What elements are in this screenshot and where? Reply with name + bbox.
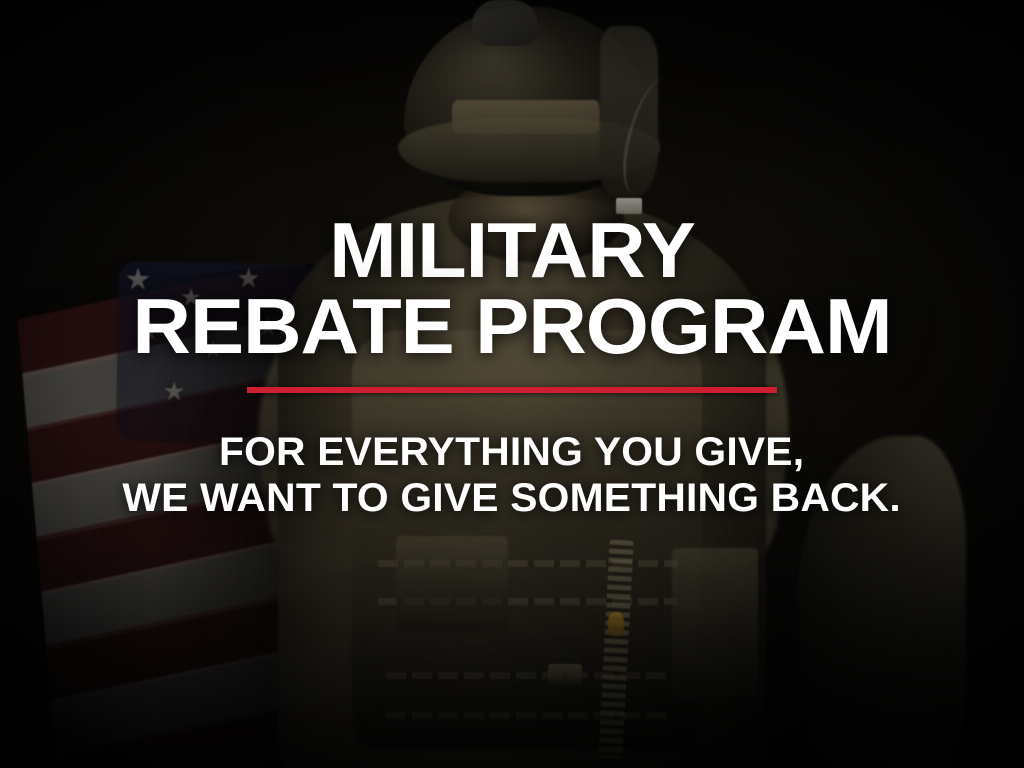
accent-divider — [247, 387, 777, 393]
headline-line-2: REBATE PROGRAM — [132, 288, 891, 364]
subheadline-line-2: WE WANT TO GIVE SOMETHING BACK. — [123, 475, 902, 521]
subheadline-line-1: FOR EVERYTHING YOU GIVE, — [219, 430, 804, 474]
text-overlay: MILITARY REBATE PROGRAM FOR EVERYTHING Y… — [0, 0, 1024, 768]
page-subtitle: FOR EVERYTHING YOU GIVE, WE WANT TO GIVE… — [123, 429, 902, 522]
page-title: MILITARY REBATE PROGRAM — [132, 212, 891, 365]
military-rebate-poster: ★ ★ ★ ★ ★ ★ ★ — [0, 0, 1024, 768]
headline-line-1: MILITARY — [329, 206, 695, 294]
